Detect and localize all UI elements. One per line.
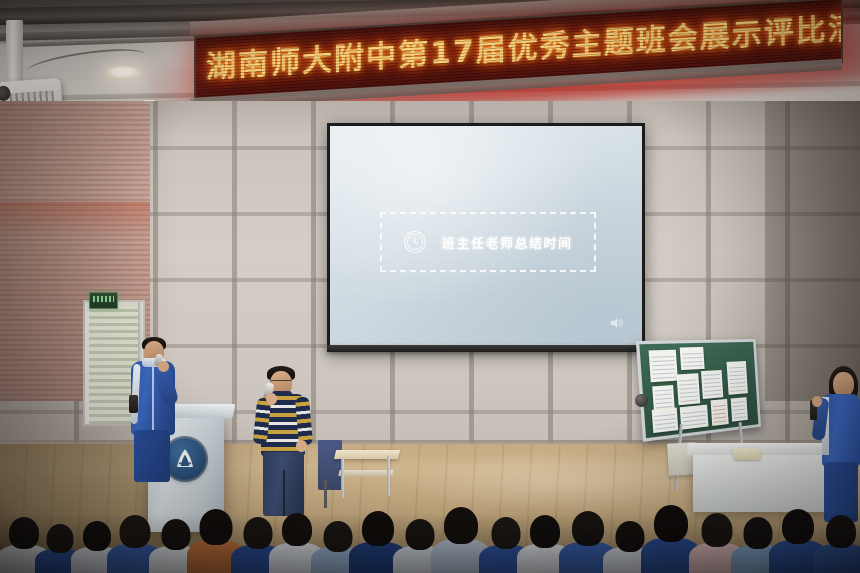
teacher-hand-mic bbox=[266, 393, 277, 405]
board-paper-4 bbox=[676, 373, 700, 405]
board-adjust-knob[interactable] bbox=[635, 394, 648, 407]
audience-head bbox=[47, 524, 74, 553]
audience-head bbox=[200, 509, 233, 545]
audience-head bbox=[162, 519, 191, 550]
board-paper-7 bbox=[680, 405, 709, 430]
audience-head bbox=[782, 509, 814, 544]
audience-head bbox=[406, 519, 435, 550]
board-paper-2 bbox=[680, 347, 705, 370]
audience-head bbox=[244, 517, 273, 549]
audience-head bbox=[492, 517, 521, 549]
audience-head bbox=[362, 511, 394, 546]
audience-head bbox=[744, 517, 773, 549]
right-student-hand bbox=[812, 396, 822, 407]
slide-title-box: 班主任老师总结时间 bbox=[380, 212, 596, 272]
audience-head bbox=[9, 517, 39, 549]
audience-head bbox=[616, 521, 645, 552]
screen-surface: 班主任老师总结时间 bbox=[330, 126, 642, 348]
table-object bbox=[733, 448, 761, 460]
board-paper-8 bbox=[711, 399, 729, 426]
speaker-volume-icon[interactable] bbox=[609, 316, 624, 330]
auditorium-photo: 湖南师大附中第17届优秀主题班会展示评比活动 bbox=[0, 0, 860, 573]
student-held-device bbox=[129, 395, 138, 413]
slide-title-text: 班主任老师总结时间 bbox=[442, 233, 573, 252]
board-paper-5 bbox=[701, 370, 723, 399]
screen-bottom-bar bbox=[327, 345, 639, 352]
audience-seating bbox=[0, 470, 860, 573]
audience-head bbox=[530, 515, 560, 548]
clock-medallion-icon bbox=[403, 230, 427, 254]
audience-head bbox=[120, 515, 151, 548]
board-paper-10 bbox=[731, 397, 748, 422]
audience-head bbox=[282, 513, 312, 546]
audience-shoulders bbox=[813, 544, 860, 573]
board-paper-1 bbox=[649, 350, 678, 383]
teacher-hand-free bbox=[296, 440, 307, 452]
projection-screen: 班主任老师总结时间 bbox=[327, 123, 645, 351]
board-surface bbox=[636, 339, 761, 442]
audience-head bbox=[826, 515, 856, 548]
board-paper-9 bbox=[726, 361, 747, 395]
audience-member bbox=[818, 515, 860, 573]
audience-head bbox=[83, 521, 111, 551]
audience-head bbox=[702, 513, 733, 547]
audience-head bbox=[324, 521, 353, 552]
emergency-exit-sign bbox=[89, 292, 118, 309]
audience-head bbox=[444, 507, 478, 544]
audience-head bbox=[654, 505, 688, 542]
projector-mount-pole bbox=[6, 20, 23, 88]
audience-head bbox=[572, 511, 604, 546]
student-hand bbox=[158, 361, 169, 372]
board-paper-6 bbox=[652, 408, 679, 434]
